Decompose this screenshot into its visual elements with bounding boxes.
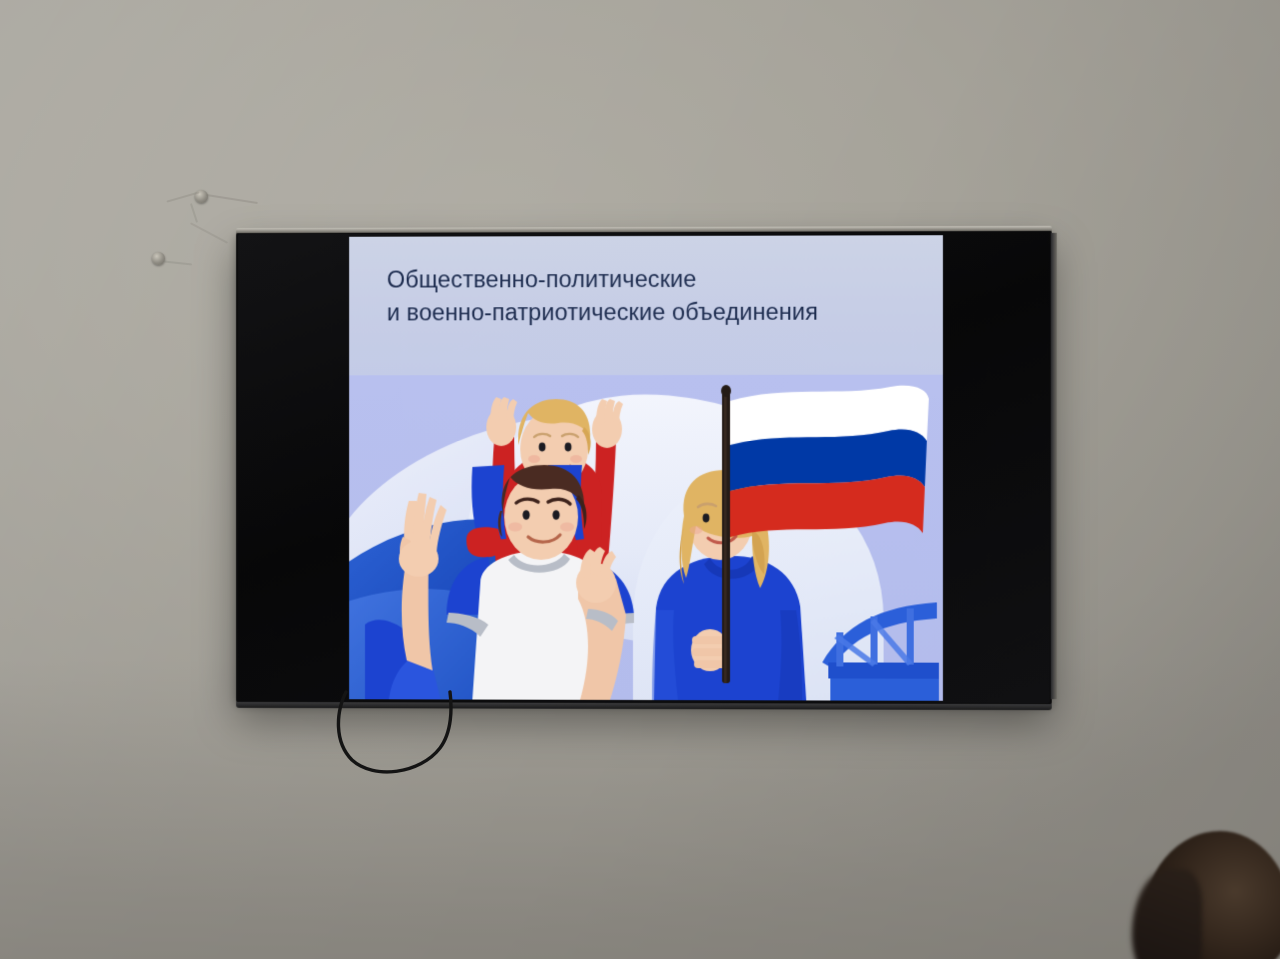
slide-title: Общественно-политические и военно-патрио…	[387, 262, 917, 329]
power-cable	[300, 690, 560, 790]
slide-illustration	[349, 375, 943, 701]
tv-display[interactable]: Общественно-политические и военно-патрио…	[236, 230, 1052, 705]
room-scene: Общественно-политические и военно-патрио…	[0, 0, 1280, 959]
man-carrying-child-figure	[441, 465, 675, 700]
presentation-slide: Общественно-политические и военно-патрио…	[349, 235, 943, 701]
wall-anchor	[152, 252, 165, 265]
tv-right-edge	[1051, 233, 1057, 699]
russian-flag	[700, 383, 931, 684]
tv-screen-panel: Общественно-политические и военно-патрио…	[238, 232, 1050, 703]
